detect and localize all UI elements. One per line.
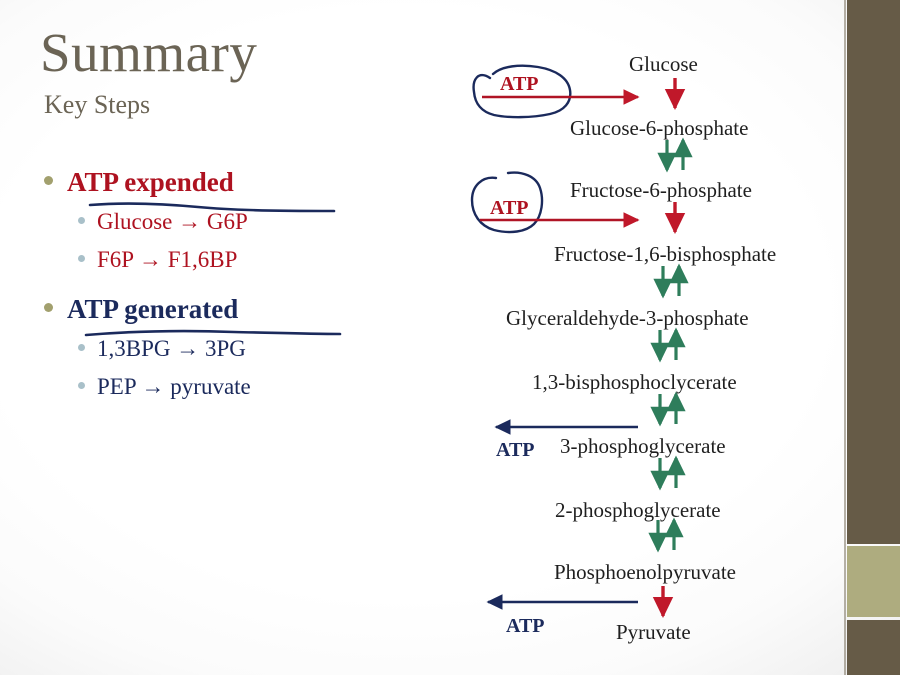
bullet-label: PEP → pyruvate xyxy=(97,375,251,399)
metabolite-2-phosphoglycerate: 2-phosphoglycerate xyxy=(555,500,721,521)
metabolite-phosphoenolpyruvate: Phosphoenolpyruvate xyxy=(554,562,736,583)
page-title: Summary xyxy=(40,25,460,80)
title-area: Summary Key Steps xyxy=(40,25,460,118)
sidebar-block-bottom xyxy=(847,620,900,675)
arrow-pair-g3p-13bpg xyxy=(660,330,676,360)
bullet-f6p-f16bp[interactable]: F6P → F1,6BP xyxy=(78,248,444,272)
slide-canvas: Summary Key Steps ATP expended Glucose →… xyxy=(0,0,900,675)
bullet-dot-icon xyxy=(44,176,53,185)
arrow-pair-2pg-pep xyxy=(658,520,674,550)
arrow-pair-13bpg-3pg xyxy=(660,394,676,424)
atp-input-label-1: ATP xyxy=(500,74,539,94)
bullet-list: ATP expended Glucose → G6P F6P → F1,6BP … xyxy=(44,158,444,399)
bullet-label: 1,3BPG → 3PG xyxy=(97,337,246,361)
metabolite-3-phosphoglycerate: 3-phosphoglycerate xyxy=(560,436,726,457)
sub-bullet-dot-icon xyxy=(78,255,85,262)
metabolite-fructose-6-phosphate: Fructose-6-phosphate xyxy=(570,180,752,201)
bullet-glucose-g6p[interactable]: Glucose → G6P xyxy=(78,210,444,234)
arrow-pair-g6p-f6p xyxy=(667,140,683,170)
bullet-label: ATP expended xyxy=(67,168,234,196)
atp-input-label-2: ATP xyxy=(490,198,529,218)
sidebar-rule xyxy=(844,0,846,675)
bullet-label: ATP generated xyxy=(67,295,238,323)
metabolite-glucose: Glucose xyxy=(629,54,698,75)
metabolite-glyceraldehyde-3-phosphate: Glyceraldehyde-3-phosphate xyxy=(506,308,749,329)
metabolite-pyruvate: Pyruvate xyxy=(616,622,691,643)
bullet-atp-expended[interactable]: ATP expended xyxy=(44,168,444,196)
bullet-label: F6P → F1,6BP xyxy=(97,248,237,272)
bullet-group-atp-expended: ATP expended Glucose → G6P F6P → F1,6BP xyxy=(44,168,444,273)
sub-bullet-dot-icon xyxy=(78,344,85,351)
metabolite-fructose-1-6-bisphosphate: Fructose-1,6-bisphosphate xyxy=(554,244,776,265)
bullet-13bpg-3pg[interactable]: 1,3BPG → 3PG xyxy=(78,337,444,361)
sub-bullet-dot-icon xyxy=(78,217,85,224)
glycolysis-pathway: Glucose Glucose-6-phosphate Fructose-6-p… xyxy=(460,30,840,660)
bullet-dot-icon xyxy=(44,303,53,312)
arrow-pair-3pg-2pg xyxy=(660,458,676,488)
bullet-pep-pyruvate[interactable]: PEP → pyruvate xyxy=(78,375,444,399)
bullet-atp-generated[interactable]: ATP generated xyxy=(44,295,444,323)
metabolite-glucose-6-phosphate: Glucose-6-phosphate xyxy=(570,118,748,139)
sub-bullet-dot-icon xyxy=(78,382,85,389)
arrow-pair-f16bp-g3p xyxy=(663,266,679,296)
atp-output-label-1: ATP xyxy=(496,440,535,460)
atp-output-label-2: ATP xyxy=(506,616,545,636)
bullet-group-atp-generated: ATP generated 1,3BPG → 3PG PEP → pyruvat… xyxy=(44,295,444,400)
metabolite-1-3-bisphosphoclycerate: 1,3-bisphosphoclycerate xyxy=(532,372,737,393)
page-subtitle: Key Steps xyxy=(44,92,460,118)
sidebar-block-accent xyxy=(847,546,900,617)
bullet-label: Glucose → G6P xyxy=(97,210,248,234)
sidebar-block-top xyxy=(847,0,900,544)
